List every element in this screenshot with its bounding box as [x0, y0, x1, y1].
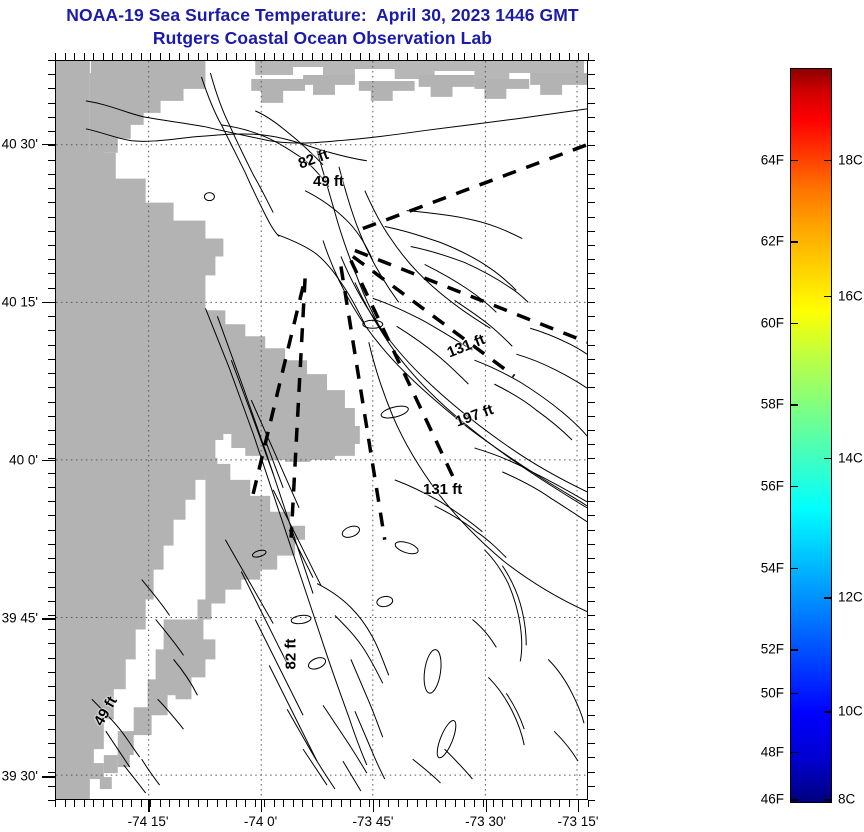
x-tick-minor: [236, 800, 237, 807]
colorbar-tick-f: [790, 568, 798, 570]
x-tick-minor: [160, 53, 161, 60]
x-tick-minor: [350, 800, 351, 807]
x-tick-minor: [312, 800, 313, 807]
x-tick-minor: [521, 53, 522, 60]
colorbar-tick-c: [824, 799, 832, 801]
x-tick-minor: [483, 800, 484, 807]
x-tick-minor: [141, 53, 142, 60]
y-tick-minor: [48, 402, 55, 403]
x-tick-minor: [141, 800, 142, 807]
title-line-1: NOAA-19 Sea Surface Temperature: April 3…: [0, 4, 645, 27]
x-tick-minor: [493, 53, 494, 60]
colorbar-tick-c: [824, 296, 832, 298]
x-tick-minor: [483, 53, 484, 60]
x-tick-minor: [407, 800, 408, 807]
x-tick-minor: [55, 800, 56, 807]
x-tick-minor: [398, 53, 399, 60]
x-tick-minor: [531, 53, 532, 60]
x-tick-minor: [169, 800, 170, 807]
y-tick-minor: [588, 88, 595, 89]
x-tick-minor: [65, 800, 66, 807]
x-tick-minor: [55, 53, 56, 60]
x-axis-label-2: -73 45': [353, 814, 394, 829]
y-tick-minor: [48, 387, 55, 388]
y-tick-minor: [48, 160, 55, 161]
x-tick-minor: [341, 800, 342, 807]
x-tick-minor: [207, 800, 208, 807]
x-tick-minor: [217, 53, 218, 60]
y-tick-minor: [48, 373, 55, 374]
y-tick-minor: [588, 402, 595, 403]
x-tick-minor: [255, 800, 256, 807]
x-tick-minor: [388, 800, 389, 807]
x-tick-minor: [502, 800, 503, 807]
y-tick-minor: [48, 515, 55, 516]
colorbar-tick-c: [824, 160, 832, 162]
transect-lines: [251, 145, 587, 540]
x-tick-minor: [388, 53, 389, 60]
y-tick-minor: [588, 288, 595, 289]
x-tick-minor: [160, 800, 161, 807]
x-tick-minor: [436, 53, 437, 60]
x-tick-minor: [445, 53, 446, 60]
y-tick-minor: [588, 558, 595, 559]
x-tick-minor: [521, 800, 522, 807]
y-tick-minor: [48, 430, 55, 431]
colorbar-label-f-2: 60F: [742, 315, 784, 330]
x-tick-minor: [550, 53, 551, 60]
y-tick-minor: [588, 487, 595, 488]
y-tick-minor: [48, 800, 55, 801]
x-tick-minor: [283, 800, 284, 807]
x-tick-minor: [455, 800, 456, 807]
x-tick-minor: [264, 53, 265, 60]
x-tick-minor: [559, 800, 560, 807]
x-tick-minor: [502, 53, 503, 60]
x-axis-label-1: -74 0': [244, 814, 277, 829]
land-mask-layer: [56, 61, 587, 799]
x-axis-label-0: -74 15': [128, 814, 169, 829]
y-tick-minor: [588, 658, 595, 659]
y-tick-minor: [48, 259, 55, 260]
y-tick-minor: [48, 786, 55, 787]
y-tick-minor: [588, 174, 595, 175]
y-tick-minor: [588, 458, 595, 459]
x-tick-minor: [360, 53, 361, 60]
x-tick-minor: [198, 800, 199, 807]
y-tick-minor: [588, 245, 595, 246]
x-axis-label-3: -73 30': [465, 814, 506, 829]
x-tick-minor: [464, 53, 465, 60]
y-tick-minor: [48, 558, 55, 559]
x-tick-minor: [103, 800, 104, 807]
page-title: NOAA-19 Sea Surface Temperature: April 3…: [0, 4, 645, 50]
colorbar-label-c-3: 12C: [838, 590, 863, 605]
map-canvas: [56, 61, 587, 799]
y-tick-minor: [588, 145, 595, 146]
depth-label-49ft-north: 49 ft: [313, 173, 344, 190]
y-tick-minor: [588, 601, 595, 602]
x-tick-minor: [84, 800, 85, 807]
x-tick-minor: [122, 800, 123, 807]
y-tick-major: [42, 618, 55, 620]
x-tick-minor: [84, 53, 85, 60]
colorbar-tick-f: [790, 241, 798, 243]
x-tick-minor: [474, 53, 475, 60]
x-tick-minor: [550, 800, 551, 807]
y-tick-minor: [588, 643, 595, 644]
x-tick-minor: [302, 800, 303, 807]
y-tick-minor: [588, 345, 595, 346]
y-tick-minor: [588, 786, 595, 787]
y-tick-minor: [48, 117, 55, 118]
y-tick-minor: [48, 643, 55, 644]
y-tick-minor: [48, 672, 55, 673]
x-axis-label-4: -73 15': [558, 814, 599, 829]
colorbar-label-f-8: 48F: [742, 744, 784, 759]
x-tick-minor: [331, 53, 332, 60]
y-tick-minor: [588, 430, 595, 431]
x-tick-minor: [122, 53, 123, 60]
colorbar-label-c-5: 8C: [838, 792, 855, 807]
y-tick-minor: [588, 217, 595, 218]
y-tick-minor: [588, 103, 595, 104]
x-tick-minor: [302, 53, 303, 60]
y-axis-label-2: 40 0': [0, 452, 38, 467]
y-tick-minor: [588, 729, 595, 730]
y-tick-minor: [48, 501, 55, 502]
y-tick-minor: [48, 416, 55, 417]
x-tick-minor: [245, 800, 246, 807]
x-tick-minor: [179, 53, 180, 60]
x-tick-minor: [198, 53, 199, 60]
colorbar-label-f-3: 58F: [742, 397, 784, 412]
colorbar-label-c-4: 10C: [838, 704, 863, 719]
y-axis-label-0: 40 30': [0, 136, 38, 151]
x-tick-minor: [74, 800, 75, 807]
y-tick-minor: [588, 672, 595, 673]
x-tick-minor: [436, 800, 437, 807]
x-tick-minor: [226, 53, 227, 60]
y-tick-minor: [588, 74, 595, 75]
y-tick-minor: [588, 686, 595, 687]
y-tick-minor: [588, 501, 595, 502]
x-tick-minor: [360, 800, 361, 807]
y-tick-minor: [48, 700, 55, 701]
y-tick-minor: [588, 515, 595, 516]
x-tick-minor: [331, 800, 332, 807]
y-tick-minor: [588, 530, 595, 531]
y-tick-minor: [48, 601, 55, 602]
x-tick-minor: [569, 800, 570, 807]
y-tick-minor: [48, 231, 55, 232]
x-tick-minor: [112, 800, 113, 807]
depth-label-82ft-south: 82 ft: [283, 639, 300, 670]
x-tick-minor: [245, 53, 246, 60]
x-tick-minor: [407, 53, 408, 60]
x-tick-minor: [274, 800, 275, 807]
x-tick-minor: [569, 53, 570, 60]
x-tick-minor: [312, 53, 313, 60]
x-tick-minor: [283, 53, 284, 60]
y-tick-major: [42, 460, 55, 462]
y-tick-minor: [48, 686, 55, 687]
x-tick-minor: [226, 800, 227, 807]
y-tick-minor: [588, 231, 595, 232]
x-tick-major: [486, 800, 488, 812]
colorbar-label-f-6: 52F: [742, 642, 784, 657]
x-tick-minor: [417, 800, 418, 807]
x-tick-major: [148, 800, 150, 812]
colorbar-tick-c: [824, 711, 832, 713]
y-tick-minor: [48, 715, 55, 716]
colorbar-label-f-0: 64F: [742, 152, 784, 167]
colorbar-tick-c: [824, 597, 832, 599]
y-tick-minor: [588, 700, 595, 701]
y-tick-minor: [48, 359, 55, 360]
colorbar-tick-f: [790, 323, 798, 325]
colorbar-tick-c: [824, 458, 832, 460]
y-tick-minor: [588, 772, 595, 773]
y-tick-minor: [588, 387, 595, 388]
x-tick-minor: [207, 53, 208, 60]
colorbar-label-c-2: 14C: [838, 450, 863, 465]
x-tick-major: [261, 800, 263, 812]
x-tick-minor: [293, 800, 294, 807]
y-tick-minor: [48, 316, 55, 317]
y-tick-minor: [48, 629, 55, 630]
x-tick-minor: [103, 53, 104, 60]
x-tick-minor: [588, 53, 589, 60]
colorbar-tick-f: [790, 649, 798, 651]
y-tick-minor: [48, 145, 55, 146]
x-tick-minor: [531, 800, 532, 807]
y-tick-minor: [48, 544, 55, 545]
y-tick-minor: [48, 217, 55, 218]
x-tick-minor: [474, 800, 475, 807]
x-tick-minor: [379, 800, 380, 807]
y-tick-minor: [588, 160, 595, 161]
y-tick-minor: [48, 88, 55, 89]
colorbar-label-c-1: 16C: [838, 288, 863, 303]
y-tick-minor: [588, 757, 595, 758]
y-tick-minor: [588, 117, 595, 118]
depth-label-131ft-lower: 131 ft: [423, 481, 462, 498]
x-tick-minor: [322, 800, 323, 807]
colorbar-label-c-0: 18C: [838, 152, 863, 167]
x-tick-minor: [464, 800, 465, 807]
x-tick-minor: [188, 800, 189, 807]
y-tick-minor: [588, 615, 595, 616]
y-tick-minor: [588, 800, 595, 801]
x-tick-minor: [540, 53, 541, 60]
y-tick-minor: [48, 530, 55, 531]
title-line-2: Rutgers Coastal Ocean Observation Lab: [0, 27, 645, 50]
y-axis-label-4: 39 30': [0, 769, 38, 784]
y-tick-minor: [588, 316, 595, 317]
y-tick-minor: [48, 729, 55, 730]
x-tick-minor: [150, 800, 151, 807]
y-tick-minor: [48, 444, 55, 445]
y-tick-major: [42, 302, 55, 304]
y-tick-minor: [48, 587, 55, 588]
y-tick-major: [42, 144, 55, 146]
x-tick-minor: [93, 800, 94, 807]
y-tick-minor: [48, 202, 55, 203]
colorbar-label-f-4: 56F: [742, 478, 784, 493]
x-tick-minor: [131, 800, 132, 807]
y-tick-minor: [588, 473, 595, 474]
y-tick-minor: [48, 174, 55, 175]
y-tick-minor: [48, 345, 55, 346]
y-tick-minor: [588, 544, 595, 545]
x-tick-minor: [112, 53, 113, 60]
colorbar-tick-f: [790, 693, 798, 695]
y-tick-minor: [48, 615, 55, 616]
y-tick-minor: [48, 131, 55, 132]
y-tick-minor: [48, 103, 55, 104]
x-tick-minor: [369, 800, 370, 807]
y-tick-minor: [588, 188, 595, 189]
y-tick-minor: [588, 273, 595, 274]
colorbar-label-f-1: 62F: [742, 234, 784, 249]
y-axis-label-3: 39 45': [0, 611, 38, 626]
x-tick-minor: [236, 53, 237, 60]
x-tick-minor: [417, 53, 418, 60]
colorbar-tick-f: [790, 799, 798, 801]
y-tick-minor: [48, 288, 55, 289]
y-tick-minor: [588, 629, 595, 630]
y-tick-minor: [48, 473, 55, 474]
x-tick-minor: [322, 53, 323, 60]
y-tick-minor: [588, 373, 595, 374]
y-tick-minor: [588, 743, 595, 744]
x-tick-minor: [179, 800, 180, 807]
colorbar-tick-f: [790, 752, 798, 754]
y-tick-minor: [48, 658, 55, 659]
sst-map-plot[interactable]: 49 ft 82 ft 131 ft 197 ft 131 ft 82 ft 4…: [55, 60, 588, 800]
y-tick-minor: [48, 60, 55, 61]
colorbar-label-f-9: 46F: [742, 792, 784, 807]
colorbar-label-f-7: 50F: [742, 685, 784, 700]
x-tick-minor: [455, 53, 456, 60]
y-tick-minor: [588, 572, 595, 573]
x-tick-minor: [350, 53, 351, 60]
y-tick-minor: [588, 259, 595, 260]
x-tick-minor: [379, 53, 380, 60]
y-tick-minor: [48, 245, 55, 246]
x-tick-minor: [426, 800, 427, 807]
y-tick-minor: [48, 487, 55, 488]
x-tick-minor: [188, 53, 189, 60]
y-tick-minor: [588, 715, 595, 716]
x-tick-minor: [169, 53, 170, 60]
x-tick-minor: [369, 53, 370, 60]
y-tick-minor: [48, 188, 55, 189]
y-tick-minor: [588, 444, 595, 445]
y-tick-minor: [588, 330, 595, 331]
y-tick-minor: [588, 416, 595, 417]
y-tick-minor: [588, 131, 595, 132]
x-tick-minor: [578, 53, 579, 60]
colorbar-tick-f: [790, 404, 798, 406]
y-tick-minor: [48, 772, 55, 773]
x-tick-minor: [255, 53, 256, 60]
y-tick-minor: [588, 202, 595, 203]
x-tick-minor: [426, 53, 427, 60]
y-axis-label-1: 40 15': [0, 294, 38, 309]
y-tick-minor: [588, 587, 595, 588]
y-tick-minor: [48, 273, 55, 274]
x-tick-minor: [74, 53, 75, 60]
colorbar-tick-f: [790, 160, 798, 162]
x-tick-minor: [150, 53, 151, 60]
x-tick-minor: [445, 800, 446, 807]
x-tick-minor: [540, 800, 541, 807]
x-tick-minor: [398, 800, 399, 807]
x-tick-minor: [264, 800, 265, 807]
x-tick-minor: [293, 53, 294, 60]
y-tick-major: [42, 776, 55, 778]
x-tick-minor: [341, 53, 342, 60]
colorbar-tick-f: [790, 486, 798, 488]
x-tick-minor: [93, 53, 94, 60]
y-tick-minor: [48, 330, 55, 331]
x-tick-minor: [493, 800, 494, 807]
x-tick-major: [373, 800, 375, 812]
y-tick-minor: [48, 757, 55, 758]
x-tick-minor: [131, 53, 132, 60]
x-tick-major: [578, 800, 580, 812]
x-tick-minor: [588, 800, 589, 807]
y-tick-minor: [588, 302, 595, 303]
y-tick-minor: [588, 60, 595, 61]
y-tick-minor: [48, 743, 55, 744]
x-tick-minor: [512, 800, 513, 807]
x-tick-minor: [512, 53, 513, 60]
y-tick-minor: [48, 74, 55, 75]
x-tick-minor: [559, 53, 560, 60]
colorbar-label-f-5: 54F: [742, 560, 784, 575]
x-tick-minor: [217, 800, 218, 807]
x-tick-minor: [65, 53, 66, 60]
x-tick-minor: [274, 53, 275, 60]
y-tick-minor: [588, 359, 595, 360]
y-tick-minor: [48, 572, 55, 573]
